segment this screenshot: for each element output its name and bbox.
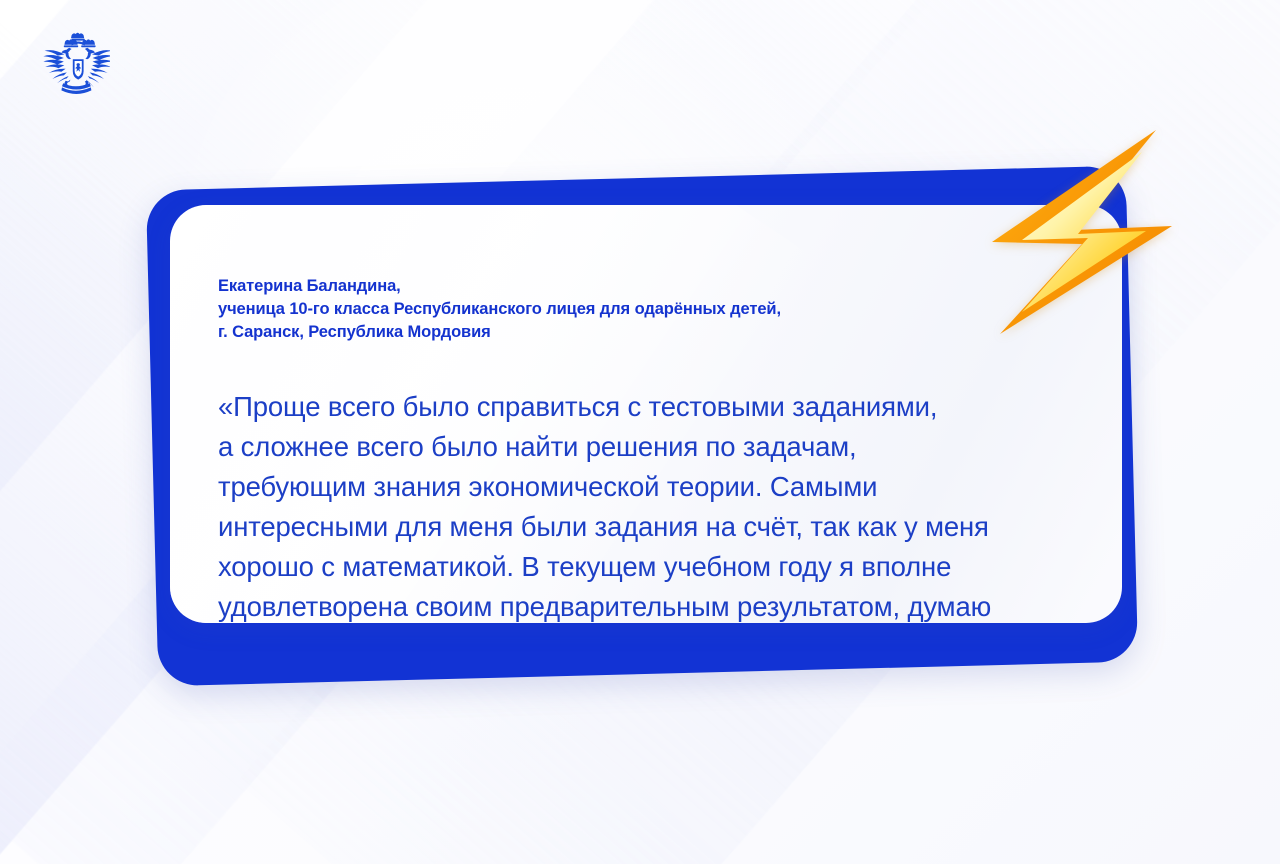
quote-line: а сложнее всего было найти решения по за… [218, 427, 1098, 467]
quote-line: удовлетворена своим предварительным резу… [218, 587, 1098, 623]
quote-line: требующим знания экономической теории. С… [218, 467, 1098, 507]
quote-attribution: Екатерина Баландина, ученица 10-го класс… [218, 275, 781, 344]
quote-card: Екатерина Баландина, ученица 10-го класс… [170, 205, 1122, 623]
attribution-line-name: Екатерина Баландина, [218, 275, 781, 298]
quote-line: интересными для меня были задания на счё… [218, 507, 1098, 547]
quote-line: «Проще всего было справиться с тестовыми… [218, 387, 1098, 427]
quote-line: хорошо с математикой. В текущем учебном … [218, 547, 1098, 587]
lightning-bolt-icon [986, 122, 1186, 342]
quote-card-stack: Екатерина Баландина, ученица 10-го класс… [152, 178, 1132, 674]
russian-federation-double-headed-eagle-emblem [38, 28, 110, 100]
attribution-line-place: г. Саранск, Республика Мордовия [218, 321, 781, 344]
quote-text: «Проще всего было справиться с тестовыми… [218, 387, 1098, 623]
attribution-line-school: ученица 10-го класса Республиканского ли… [218, 298, 781, 321]
